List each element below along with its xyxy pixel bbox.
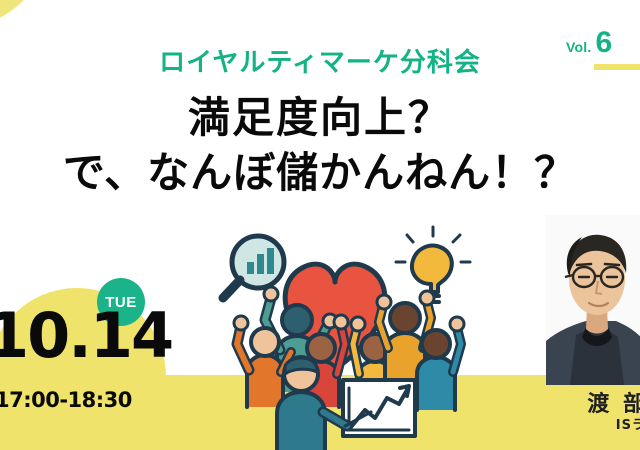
top-left-yellow-blob — [0, 0, 48, 30]
event-time: 17:00-18:30 — [0, 388, 132, 412]
page-title-line2: で、なんぼ儲かんねん！？ — [0, 152, 640, 194]
hero-illustration — [185, 222, 485, 450]
whiteboard-growth-chart — [343, 380, 415, 436]
speaker-photo — [546, 215, 640, 385]
speaker-org: ISラ — [616, 414, 640, 433]
lightbulb-icon — [396, 227, 470, 302]
event-date: 10.14 — [0, 305, 172, 367]
eyebrow-text: ロイヤルティマーケ分科会 — [0, 42, 640, 79]
page-title-line1: 満足度向上？ — [0, 97, 640, 139]
seminar-banner: Vol. 6 ロイヤルティマーケ分科会 満足度向上？ で、なんぼ儲かんねん！？ — [0, 0, 640, 450]
